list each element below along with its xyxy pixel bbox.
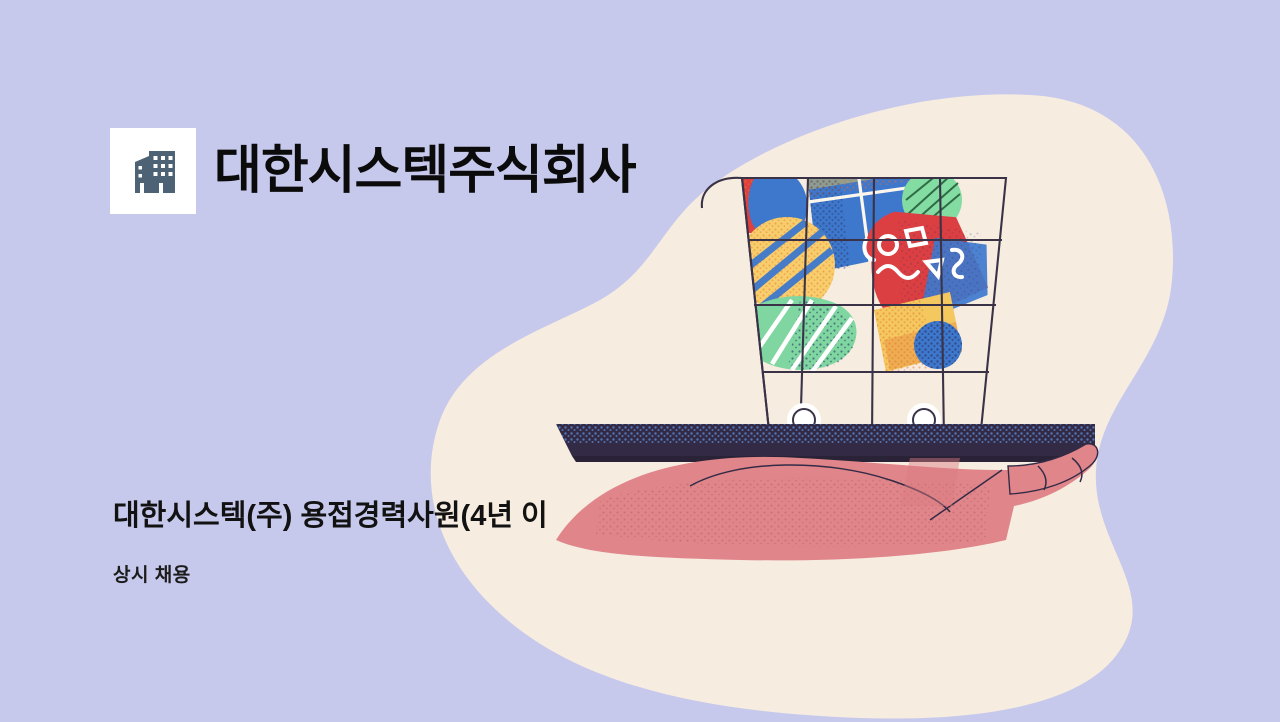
company-logo [110,128,196,214]
item-circle-blue-speckle [914,321,962,369]
illustration-artwork [0,0,1280,722]
company-name: 대한시스텍주식회사 [214,145,636,197]
recruitment-status-badge: 상시 채용 [113,560,693,587]
job-title[interactable]: 대한시스텍(주) 용접경력사원(4년 이 [113,498,693,534]
company-header: 대한시스텍주식회사 [110,128,636,214]
job-summary: 대한시스텍(주) 용접경력사원(4년 이 상시 채용 [113,498,693,587]
office-building-icon [125,143,181,199]
shelf-bar [556,424,1095,462]
job-posting-card: 대한시스텍주식회사 대한시스텍(주) 용접경력사원(4년 이 상시 채용 [0,0,1280,722]
